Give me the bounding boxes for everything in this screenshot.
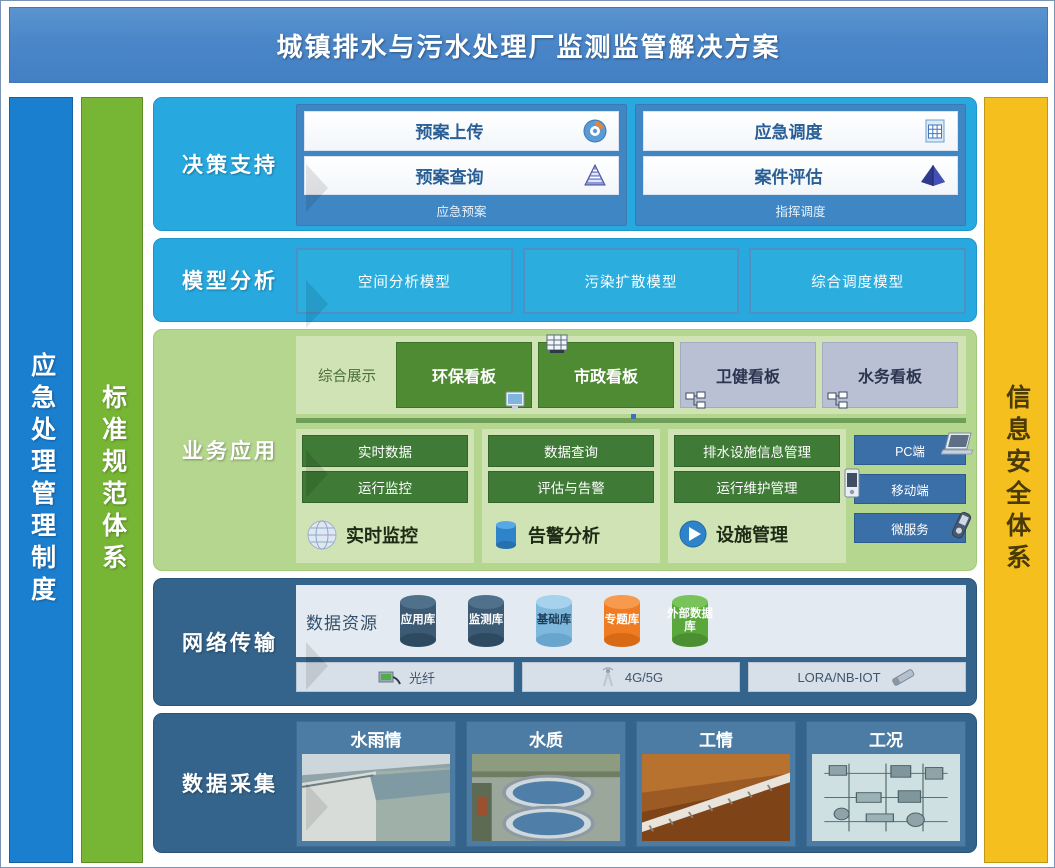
decision-group-command-dispatch-caption: 指挥调度 (643, 200, 958, 223)
database-foundation[interactable]: 基础库 (526, 592, 582, 650)
database-thematic[interactable]: 专题库 (594, 592, 650, 650)
board-municipal-label: 市政看板 (574, 363, 638, 387)
layer-network-transmission: 网络传输 数据资源 应用库 (153, 578, 977, 706)
database-thematic-label: 专题库 (605, 614, 640, 627)
endpoint-microservice-label: 微服务 (891, 519, 929, 538)
card-case-assessment[interactable]: 案件评估 (643, 156, 958, 196)
database-external-label: 外部数据库 (662, 608, 718, 634)
globe-icon (304, 517, 340, 553)
card-emergency-dispatch-label: 应急调度 (644, 118, 957, 143)
data-card-operating-condition[interactable]: 工况 (806, 721, 966, 847)
upload-circle-icon (582, 118, 608, 144)
comprehensive-display-label: 综合展示 (304, 365, 390, 386)
endpoint-microservice[interactable]: 微服务 (854, 513, 966, 543)
business-column-alarm: 数据查询 评估与告警 告警分析 (482, 429, 660, 563)
endpoint-pc-label: PC端 (895, 441, 925, 460)
layer-business-label: 业务应用 (154, 330, 306, 570)
card-plan-upload[interactable]: 预案上传 (304, 111, 619, 151)
fiber-cable-icon (375, 667, 401, 687)
endpoint-mobile-label: 移动端 (891, 480, 929, 499)
pillar-emergency-label: 应急处理管理制度 (25, 352, 56, 608)
feature-phone-icon (947, 510, 975, 540)
biz-button-data-query[interactable]: 数据查询 (488, 435, 654, 467)
layer-stack: 决策支持 预案上传 (153, 97, 977, 863)
card-plan-query-label: 预案查询 (305, 163, 618, 188)
transport-fiber[interactable]: 光纤 (296, 662, 514, 692)
biz-feature-facility-management[interactable]: 设施管理 (674, 507, 840, 555)
board-water-affairs-label: 水务看板 (858, 363, 922, 387)
layer-decision-support: 决策支持 预案上传 (153, 97, 977, 231)
business-column-facility: 排水设施信息管理 运行维护管理 设施管理 (668, 429, 846, 563)
sedimentation-tanks-photo (472, 754, 620, 841)
nodes-icon (685, 391, 707, 411)
card-emergency-dispatch[interactable]: 应急调度 (643, 111, 958, 151)
data-card-water-quality-title: 水质 (467, 722, 625, 754)
pillar-standards-system: 标准规范体系 (81, 97, 143, 863)
biz-button-operation-maintenance[interactable]: 运行维护管理 (674, 471, 840, 503)
layer-data-collection: 数据采集 水雨情 (153, 713, 977, 853)
diagram-header: 城镇排水与污水处理厂监测监管解决方案 (9, 7, 1048, 83)
business-divider (296, 418, 966, 423)
play-circle-icon (676, 517, 710, 551)
decision-group-command-dispatch: 应急调度 案件评估 (635, 104, 966, 226)
pillar-emergency-management: 应急处理管理制度 (9, 97, 73, 863)
pillar-information-security: 信息安全体系 (984, 97, 1048, 863)
data-card-water-rain-title: 水雨情 (297, 722, 455, 754)
biz-button-drainage-facility-info[interactable]: 排水设施信息管理 (674, 435, 840, 467)
pyramid-light-icon (582, 162, 608, 188)
card-plan-query[interactable]: 预案查询 (304, 156, 619, 196)
biz-feature-alarm-analysis[interactable]: 告警分析 (488, 507, 654, 557)
card-case-assessment-label: 案件评估 (644, 163, 957, 188)
layer-data-collection-label: 数据采集 (154, 714, 306, 852)
page-title: 城镇排水与污水处理厂监测监管解决方案 (276, 27, 780, 64)
biz-feature-realtime-monitoring-label: 实时监控 (346, 522, 418, 548)
client-endpoints: PC端 移动端 (854, 429, 966, 563)
nodes-icon (827, 391, 849, 411)
transport-lora-nbiot[interactable]: LORA/NB-IOT (748, 662, 966, 692)
database-foundation-label: 基础库 (537, 614, 572, 627)
database-monitoring[interactable]: 监测库 (458, 592, 514, 650)
board-environment-label: 环保看板 (432, 363, 496, 387)
endpoint-pc[interactable]: PC端 (854, 435, 966, 465)
sensor-device-icon (889, 667, 917, 687)
biz-button-assessment-alarm[interactable]: 评估与告警 (488, 471, 654, 503)
database-application-label: 应用库 (401, 614, 436, 627)
transport-row: 光纤 4G/5G (296, 662, 966, 692)
transport-fiber-label: 光纤 (409, 668, 435, 687)
laptop-icon (941, 430, 975, 458)
data-card-engineering-status[interactable]: 工情 (636, 721, 796, 847)
biz-feature-facility-management-label: 设施管理 (716, 521, 788, 547)
board-health-label: 卫健看板 (716, 363, 780, 387)
transport-4g5g-label: 4G/5G (625, 670, 663, 685)
layer-model-analysis: 模型分析 空间分析模型 污染扩散模型 综合调度模型 (153, 238, 977, 322)
decision-group-emergency-plan: 预案上传 预案查询 (296, 104, 627, 226)
model-card-pollution-diffusion[interactable]: 污染扩散模型 (523, 248, 740, 314)
pillar-standards-label: 标准规范体系 (96, 384, 127, 576)
transport-lora-nbiot-label: LORA/NB-IOT (797, 670, 880, 685)
buried-pipeline-photo (642, 754, 790, 841)
pyramid-dark-icon (919, 162, 947, 188)
biz-feature-realtime-monitoring[interactable]: 实时监控 (302, 507, 468, 557)
biz-feature-alarm-analysis-label: 告警分析 (528, 522, 600, 548)
scada-schematic-photo (812, 754, 960, 841)
database-application[interactable]: 应用库 (390, 592, 446, 650)
model-card-spatial[interactable]: 空间分析模型 (296, 248, 513, 314)
data-card-water-quality[interactable]: 水质 (466, 721, 626, 847)
layer-model-label: 模型分析 (154, 239, 306, 321)
layer-network-label: 网络传输 (154, 579, 306, 705)
layer-business-application: 业务应用 综合展示 环保看板 (153, 329, 977, 571)
layer-decision-label: 决策支持 (154, 98, 306, 230)
board-water-affairs[interactable]: 水务看板 (822, 342, 958, 408)
grid-table-icon (923, 118, 947, 144)
board-health[interactable]: 卫健看板 (680, 342, 816, 408)
monitor-icon (503, 389, 527, 413)
transport-4g5g[interactable]: 4G/5G (522, 662, 740, 692)
model-card-integrated-dispatch[interactable]: 综合调度模型 (749, 248, 966, 314)
database-external[interactable]: 外部数据库 (662, 592, 718, 650)
board-municipal[interactable]: 市政看板 (538, 342, 674, 408)
cylinder-icon (490, 517, 522, 553)
data-card-engineering-status-title: 工情 (637, 722, 795, 754)
pillar-security-label: 信息安全体系 (1000, 384, 1031, 576)
data-resources-label: 数据资源 (306, 609, 378, 634)
decision-group-emergency-plan-caption: 应急预案 (304, 200, 619, 223)
comprehensive-display-row: 综合展示 环保看板 (296, 336, 966, 414)
data-card-operating-condition-title: 工况 (807, 722, 965, 754)
mobile-phone-icon (841, 467, 863, 499)
card-plan-upload-label: 预案上传 (305, 118, 618, 143)
window-icon (545, 333, 569, 355)
data-resources-row: 数据资源 应用库 (296, 585, 966, 657)
endpoint-mobile[interactable]: 移动端 (854, 474, 966, 504)
database-monitoring-label: 监测库 (469, 614, 504, 627)
antenna-tower-icon (599, 666, 617, 688)
board-environment[interactable]: 环保看板 (396, 342, 532, 408)
solution-architecture-diagram: 城镇排水与污水处理厂监测监管解决方案 应急处理管理制度 标准规范体系 信息安全体… (0, 0, 1055, 868)
